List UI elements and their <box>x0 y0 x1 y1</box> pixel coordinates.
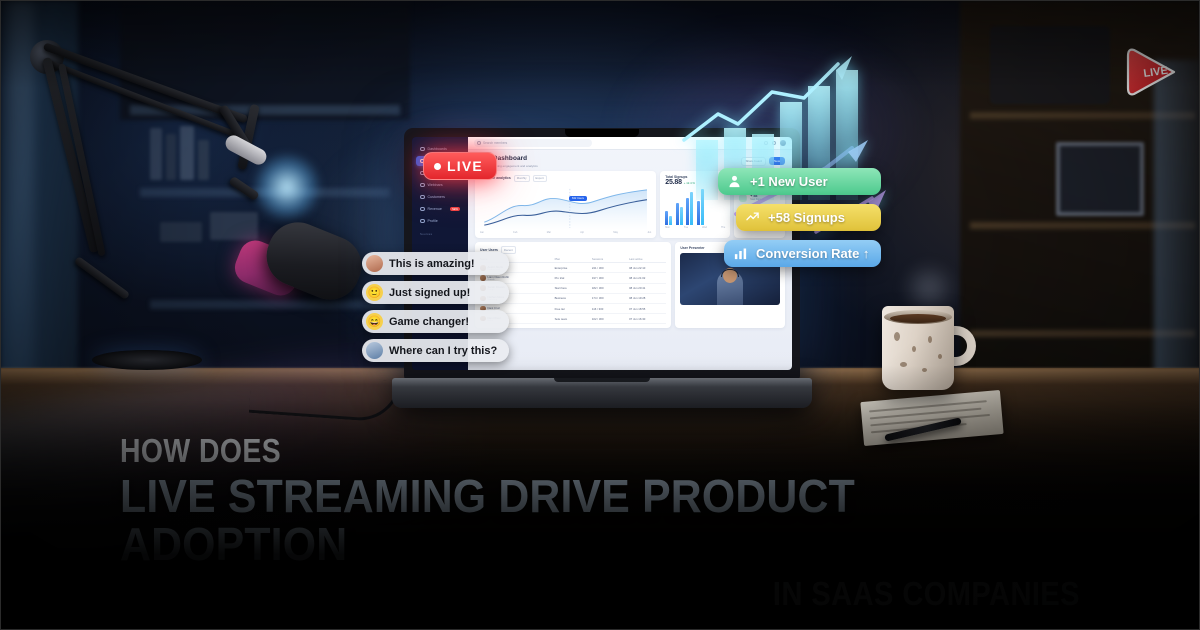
emoji-avatar: 🙂 <box>366 284 383 301</box>
headline-block: HOW DOES LIVE STREAMING DRIVE PRODUCT AD… <box>0 432 1200 613</box>
bar-chart-labels: Mon Tue Wed Thu <box>665 226 725 229</box>
live-badge-label: LIVE <box>447 158 483 174</box>
chat-message: This is amazing! <box>362 252 509 275</box>
brand-logo[interactable]: LIVE <box>1120 42 1182 104</box>
bar-chart-icon <box>732 245 749 262</box>
coffee-mug <box>882 298 974 394</box>
kpi-delta: + 12.4 % <box>684 181 695 185</box>
chart-x-axis: Jan Feb Mar Apr May Jun <box>480 231 651 234</box>
badge-label: +58 Signups <box>768 210 845 225</box>
new-button[interactable]: New <box>769 157 785 165</box>
badge-new-user: +1 New User <box>718 168 881 195</box>
search-placeholder: Search members <box>483 141 507 145</box>
headline-line-3: IN SAAS COMPANIES <box>235 575 1080 613</box>
chat-message: 🙂 Just signed up! <box>362 281 509 304</box>
chat-text: This is amazing! <box>389 258 475 270</box>
bell-icon[interactable] <box>772 141 776 145</box>
speaker-box <box>990 26 1110 104</box>
export-button[interactable]: Export <box>533 175 547 183</box>
avatar[interactable] <box>780 140 786 146</box>
chat-text: Where can I try this? <box>389 345 497 357</box>
sidebar-item-label: Webinars <box>428 183 443 187</box>
badge-conversion-rate: Conversion Rate ↑ <box>724 240 881 267</box>
webcam-notch <box>565 129 639 137</box>
sidebar-badge: NEW <box>450 207 460 211</box>
sidebar-item-label: Profile <box>428 219 438 223</box>
chat-text: Just signed up! <box>389 287 470 299</box>
photo-woman-avatar <box>366 255 383 272</box>
picture-frame <box>1056 142 1144 216</box>
headline-line-2: LIVE STREAMING DRIVE PRODUCT ADOPTION <box>120 472 1013 569</box>
person-icon <box>726 173 743 190</box>
badge-signups: +58 Signups <box>736 204 881 231</box>
floating-badges: +1 New User +58 Signups Conversion Rate … <box>718 168 881 267</box>
sidebar-item-revenue[interactable]: Revenue NEW <box>416 204 464 214</box>
topbar-actions <box>764 140 786 146</box>
record-dot-icon <box>434 163 441 170</box>
video-icon <box>420 183 425 188</box>
mug-body <box>882 306 954 390</box>
chat-message: Where can I try this? <box>362 339 509 362</box>
search-icon <box>477 141 481 145</box>
bar-chart <box>665 189 725 225</box>
studio-microphone <box>14 24 374 404</box>
dashboard-topbar: Search members <box>468 137 792 150</box>
sidebar-item-webinars[interactable]: Webinars <box>416 180 464 190</box>
headphones-icon <box>721 269 739 277</box>
gear-icon <box>420 219 425 224</box>
sidebar-item-customers[interactable]: Customers <box>416 192 464 202</box>
chart-tooltip: 842 Users <box>569 196 587 201</box>
badge-label: +1 New User <box>750 174 828 189</box>
live-badge: LIVE <box>423 152 497 180</box>
analytics-card: Real-time analytics Monthly Export <box>475 171 656 239</box>
chat-message: 😄 Game changer! <box>362 310 509 333</box>
chat-text: Game changer! <box>389 316 469 328</box>
grid-icon <box>420 147 425 152</box>
sidebar-section-label: Sources <box>420 232 464 236</box>
badge-label: Conversion Rate ↑ <box>756 246 869 261</box>
share-board-button[interactable]: Share board <box>741 157 766 166</box>
user-icon <box>420 195 425 200</box>
live-chat-overlay: This is amazing! 🙂 Just signed up! 😄 Gam… <box>362 252 509 362</box>
scene-backdrop: Dashboards Dashboard Activities Web <box>0 0 1200 630</box>
headline-line-1: HOW DOES <box>120 432 946 470</box>
laptop-base <box>392 378 812 408</box>
search-input[interactable]: Search members <box>474 139 592 147</box>
kpi-value: 25.88 <box>665 179 682 186</box>
photo-man-avatar <box>366 342 383 359</box>
emoji-avatar: 😄 <box>366 313 383 330</box>
period-select[interactable]: Monthly <box>514 175 530 183</box>
sidebar-item-label: Customers <box>428 195 445 199</box>
help-icon[interactable] <box>764 141 768 145</box>
area-chart: 842 Users <box>480 185 651 230</box>
sidebar-item-label: Revenue <box>428 207 442 211</box>
trend-up-icon <box>744 209 761 226</box>
chart-icon <box>420 207 425 212</box>
sidebar-item-profile[interactable]: Profile <box>416 216 464 226</box>
sidebar-item-label: Dashboards <box>428 147 447 151</box>
